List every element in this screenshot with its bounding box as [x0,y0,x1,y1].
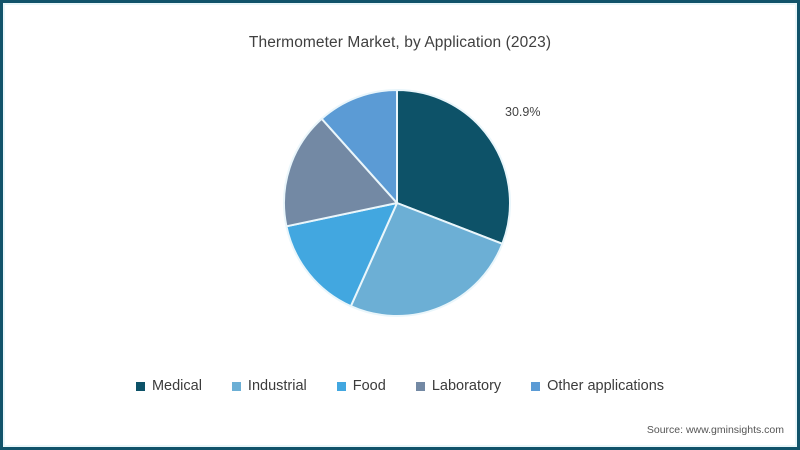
legend-item-label: Industrial [248,378,307,394]
legend-swatch-icon [337,382,346,391]
legend-item-other-applications[interactable]: Other applications [531,378,664,394]
legend-item-industrial[interactable]: Industrial [232,378,307,394]
legend-item-label: Laboratory [432,378,501,394]
pie-chart-svg [282,88,512,318]
chart-legend: MedicalIndustrialFoodLaboratoryOther app… [0,378,800,394]
legend-swatch-icon [531,382,540,391]
pie-chart [282,88,512,318]
legend-item-laboratory[interactable]: Laboratory [416,378,501,394]
legend-item-food[interactable]: Food [337,378,386,394]
source-caption: Source: www.gminsights.com [647,424,784,436]
legend-item-label: Medical [152,378,202,394]
chart-title: Thermometer Market, by Application (2023… [0,34,800,52]
legend-swatch-icon [416,382,425,391]
legend-swatch-icon [136,382,145,391]
legend-swatch-icon [232,382,241,391]
pie-data-label-medical: 30.9% [505,105,540,119]
chart-canvas: Thermometer Market, by Application (2023… [0,0,800,450]
legend-item-label: Other applications [547,378,664,394]
legend-item-medical[interactable]: Medical [136,378,202,394]
legend-item-label: Food [353,378,386,394]
pie-slice-group [284,90,510,316]
